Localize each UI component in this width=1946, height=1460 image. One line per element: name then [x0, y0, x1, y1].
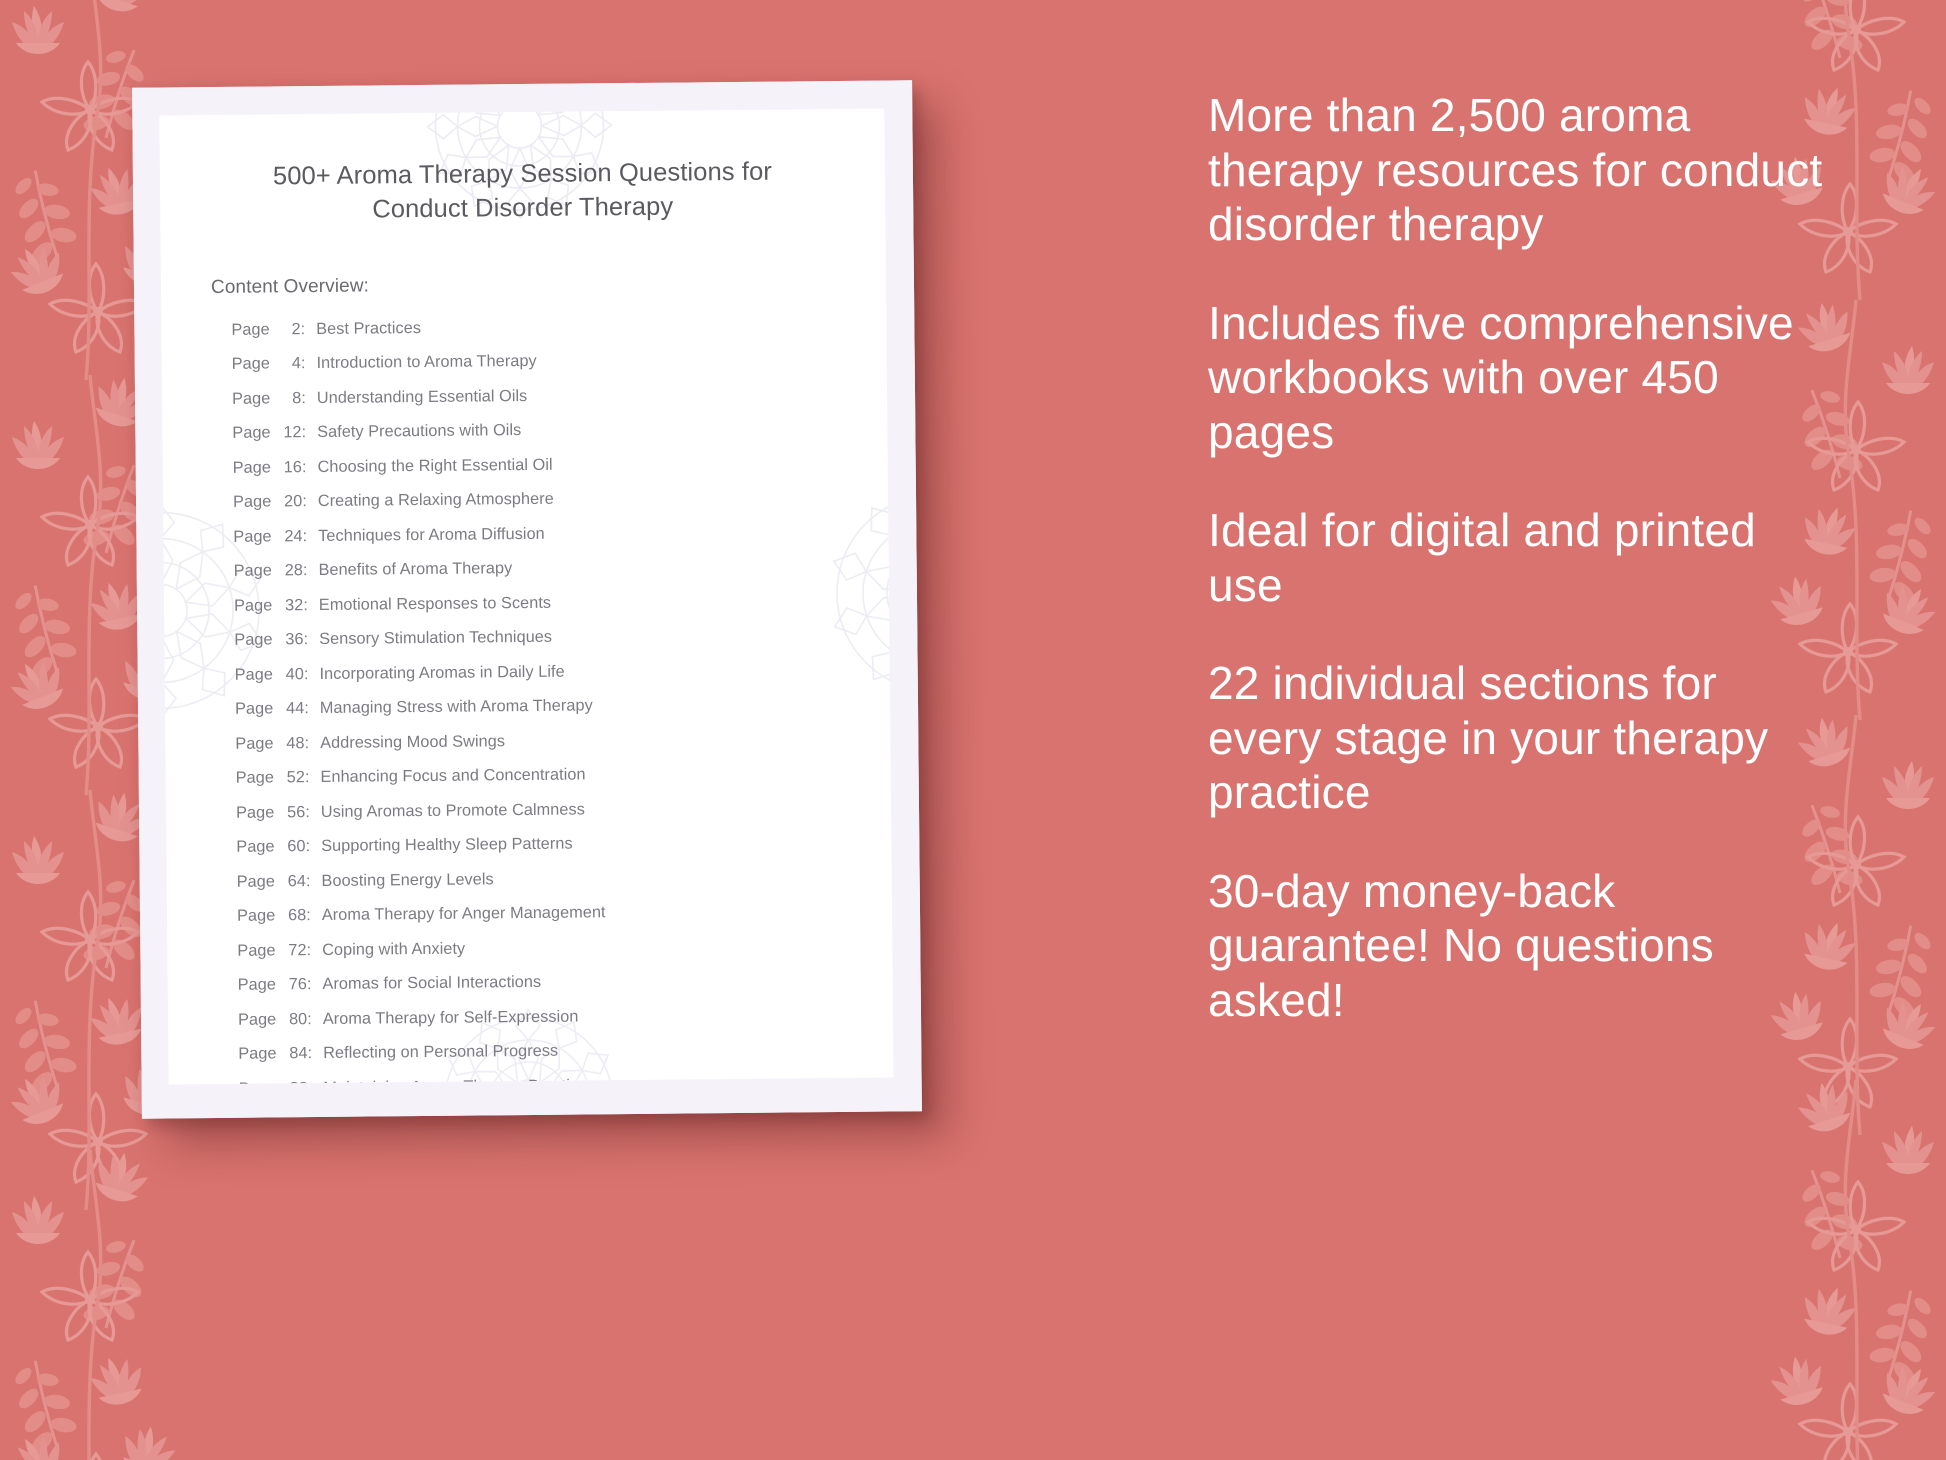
- toc-topic: Best Practices: [316, 319, 421, 339]
- toc-page-word: Page: [238, 976, 276, 995]
- toc-topic: Safety Precautions with Oils: [317, 421, 521, 442]
- toc-page-word: Page: [235, 734, 273, 753]
- toc-colon: :: [305, 803, 310, 822]
- paper-sheet: 500+ Aroma Therapy Session Questions for…: [159, 109, 893, 1085]
- page-title: 500+ Aroma Therapy Session Questions for…: [238, 155, 808, 228]
- toc-page-word: Page: [237, 872, 275, 891]
- promo-text: 22 individual sections for every stage i…: [1208, 656, 1828, 820]
- toc-topic: Introduction to Aroma Therapy: [316, 352, 536, 373]
- toc-page-number: 68: [280, 906, 306, 925]
- toc-topic: Reflecting on Personal Progress: [323, 1042, 558, 1063]
- toc-colon: :: [306, 837, 311, 856]
- toc-page-word: Page: [236, 838, 274, 857]
- toc-row: Page84:Reflecting on Personal Progress: [238, 1039, 849, 1064]
- toc-page-number: 56: [279, 803, 305, 822]
- toc-page-word: Page: [231, 320, 269, 339]
- toc-row: Page52:Enhancing Focus and Concentration: [236, 763, 847, 788]
- toc-page-number: 44: [278, 699, 304, 718]
- toc-colon: :: [306, 872, 311, 891]
- toc-page-word: Page: [232, 389, 270, 408]
- toc-topic: Addressing Mood Swings: [320, 732, 505, 753]
- toc-page-word: Page: [234, 596, 272, 615]
- toc-page-number: 64: [280, 872, 306, 891]
- toc-row: Page72:Coping with Anxiety: [237, 936, 848, 961]
- toc-page-word: Page: [238, 1045, 276, 1064]
- toc-page-word: Page: [236, 803, 274, 822]
- toc-page-number: 72: [281, 941, 307, 960]
- toc-page-number: 40: [278, 665, 304, 684]
- toc-row: Page4:Introduction to Aroma Therapy: [232, 349, 843, 374]
- toc-topic: Incorporating Aromas in Daily Life: [319, 662, 564, 683]
- toc-page-word: Page: [233, 527, 271, 546]
- toc-colon: :: [304, 665, 309, 684]
- toc-topic: Understanding Essential Oils: [317, 387, 528, 408]
- toc-colon: :: [303, 561, 308, 580]
- promo-text: Includes five comprehensive workbooks wi…: [1208, 296, 1828, 460]
- toc-topic: Benefits of Aroma Therapy: [318, 559, 512, 580]
- toc-row: Page48:Addressing Mood Swings: [235, 729, 846, 754]
- document-preview[interactable]: 500+ Aroma Therapy Session Questions for…: [132, 80, 922, 1118]
- toc-page-number: 80: [281, 1010, 307, 1029]
- toc-page-number: 2: [275, 320, 301, 339]
- toc-colon: :: [301, 354, 306, 373]
- toc-row: Page44:Managing Stress with Aroma Therap…: [235, 694, 846, 719]
- toc-row: Page8:Understanding Essential Oils: [232, 384, 843, 409]
- toc-colon: :: [302, 423, 307, 442]
- paper-mat: 500+ Aroma Therapy Session Questions for…: [132, 80, 922, 1118]
- toc-row: Page60:Supporting Healthy Sleep Patterns: [236, 832, 847, 857]
- toc-topic: Managing Stress with Aroma Therapy: [320, 697, 593, 719]
- toc-page-number: 28: [277, 561, 303, 580]
- marketing-copy: More than 2,500 aroma therapy resources …: [1208, 88, 1828, 1027]
- toc-page-word: Page: [233, 458, 271, 477]
- toc-colon: :: [301, 320, 306, 339]
- toc-topic: Boosting Energy Levels: [321, 870, 493, 891]
- toc-row: Page68:Aroma Therapy for Anger Managemen…: [237, 901, 848, 926]
- toc-page-word: Page: [235, 665, 273, 684]
- toc-page-word: Page: [236, 769, 274, 788]
- toc-topic: Aroma Therapy for Anger Management: [322, 904, 606, 926]
- promo-text: More than 2,500 aroma therapy resources …: [1208, 88, 1828, 252]
- toc-row: Page12:Safety Precautions with Oils: [232, 418, 843, 443]
- toc-page-number: 4: [275, 354, 301, 373]
- toc-colon: :: [307, 975, 312, 994]
- toc-row: Page16:Choosing the Right Essential Oil: [233, 453, 844, 478]
- toc-topic: Coping with Anxiety: [322, 939, 465, 959]
- toc-page-word: Page: [238, 1010, 276, 1029]
- toc-page-number: 12: [276, 423, 302, 442]
- toc-topic: Techniques for Aroma Diffusion: [318, 525, 545, 546]
- toc-colon: :: [304, 699, 309, 718]
- toc-colon: :: [302, 458, 307, 477]
- toc-page-number: 52: [279, 768, 305, 787]
- toc-page-number: 20: [276, 492, 302, 511]
- toc-page-word: Page: [233, 493, 271, 512]
- table-of-contents: Page2:Best PracticesPage4:Introduction t…: [205, 315, 850, 1085]
- toc-colon: :: [303, 527, 308, 546]
- toc-page-word: Page: [237, 907, 275, 926]
- toc-colon: :: [304, 630, 309, 649]
- toc-page-word: Page: [239, 1079, 277, 1084]
- toc-topic: Choosing the Right Essential Oil: [317, 456, 552, 477]
- toc-page-number: 60: [280, 837, 306, 856]
- toc-row: Page76:Aromas for Social Interactions: [238, 970, 849, 995]
- toc-topic: Enhancing Focus and Concentration: [320, 766, 585, 788]
- toc-row: Page32:Emotional Responses to Scents: [234, 591, 845, 616]
- toc-page-number: 16: [276, 458, 302, 477]
- toc-row: Page20:Creating a Relaxing Atmosphere: [233, 487, 844, 512]
- toc-colon: :: [307, 941, 312, 960]
- toc-page-number: 88: [282, 1079, 308, 1085]
- toc-row: Page64:Boosting Energy Levels: [237, 867, 848, 892]
- content-overview-label: Content Overview:: [211, 271, 842, 299]
- toc-page-word: Page: [232, 355, 270, 374]
- toc-page-number: 48: [279, 734, 305, 753]
- toc-topic: Supporting Healthy Sleep Patterns: [321, 835, 573, 856]
- toc-page-number: 84: [281, 1044, 307, 1063]
- toc-page-word: Page: [235, 700, 273, 719]
- toc-row: Page2:Best Practices: [231, 315, 842, 340]
- toc-page-number: 24: [277, 527, 303, 546]
- toc-page-number: 36: [278, 630, 304, 649]
- toc-row: Page36:Sensory Stimulation Techniques: [234, 625, 845, 650]
- promo-text: Ideal for digital and printed use: [1208, 503, 1828, 612]
- toc-topic: Aroma Therapy for Self-Expression: [323, 1007, 579, 1028]
- toc-topic: Using Aromas to Promote Calmness: [321, 800, 585, 822]
- toc-topic: Maintaining Aroma Therapy Practices: [323, 1076, 595, 1084]
- toc-colon: :: [303, 596, 308, 615]
- toc-colon: :: [302, 492, 307, 511]
- toc-colon: :: [307, 1044, 312, 1063]
- toc-colon: :: [308, 1079, 313, 1085]
- promo-text: 30-day money-back guarantee! No question…: [1208, 864, 1828, 1028]
- toc-colon: :: [305, 734, 310, 753]
- toc-page-word: Page: [232, 424, 270, 443]
- toc-page-number: 8: [275, 389, 301, 408]
- toc-topic: Emotional Responses to Scents: [319, 594, 551, 615]
- toc-row: Page56:Using Aromas to Promote Calmness: [236, 798, 847, 823]
- toc-row: Page28:Benefits of Aroma Therapy: [234, 556, 845, 581]
- toc-page-word: Page: [237, 941, 275, 960]
- toc-row: Page24:Techniques for Aroma Diffusion: [233, 522, 844, 547]
- toc-topic: Sensory Stimulation Techniques: [319, 628, 552, 649]
- toc-colon: :: [307, 1010, 312, 1029]
- toc-page-number: 76: [281, 975, 307, 994]
- toc-row: Page88:Maintaining Aroma Therapy Practic…: [239, 1074, 850, 1085]
- toc-row: Page80:Aroma Therapy for Self-Expression: [238, 1005, 849, 1030]
- toc-topic: Aromas for Social Interactions: [322, 973, 541, 994]
- page-content: 500+ Aroma Therapy Session Questions for…: [159, 109, 893, 1085]
- toc-colon: :: [301, 389, 306, 408]
- toc-colon: :: [305, 768, 310, 787]
- toc-page-word: Page: [234, 562, 272, 581]
- toc-page-number: 32: [277, 596, 303, 615]
- toc-page-word: Page: [234, 631, 272, 650]
- toc-colon: :: [306, 906, 311, 925]
- toc-row: Page40:Incorporating Aromas in Daily Lif…: [235, 660, 846, 685]
- toc-topic: Creating a Relaxing Atmosphere: [318, 490, 554, 511]
